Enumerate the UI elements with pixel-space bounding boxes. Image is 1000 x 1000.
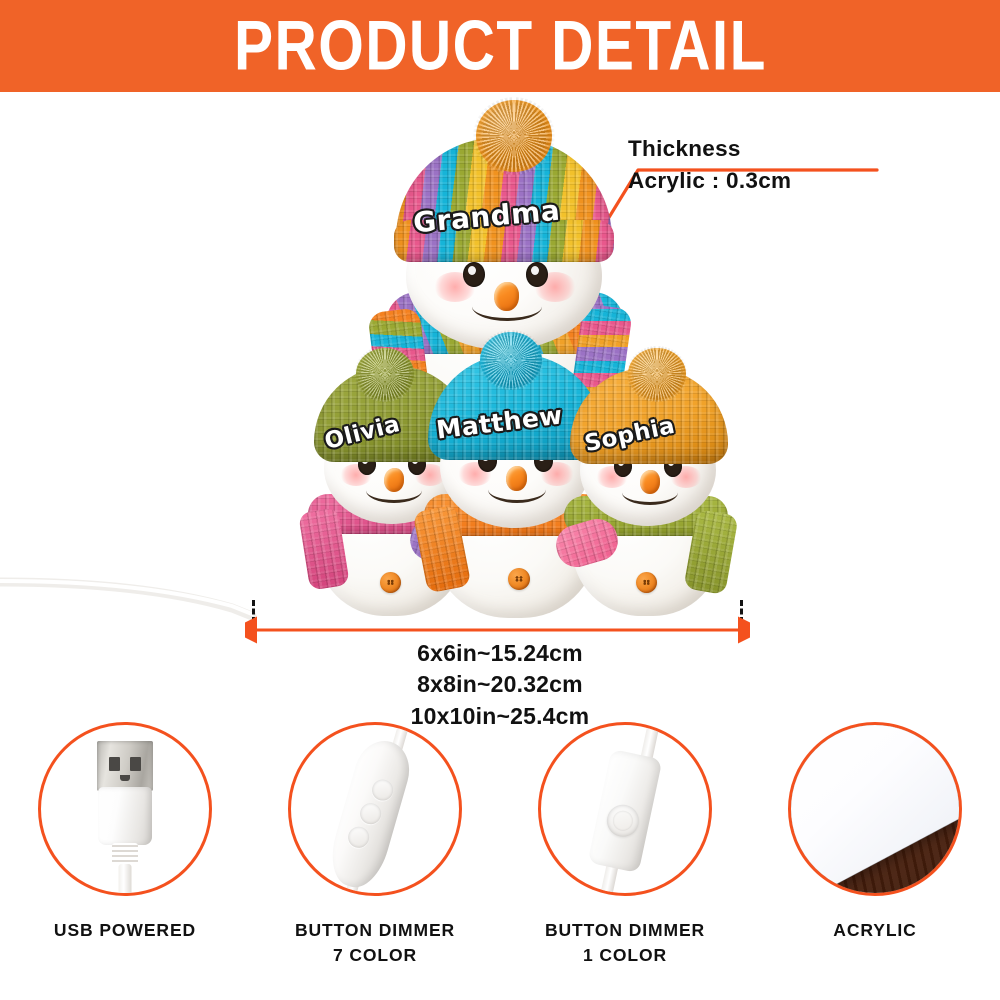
feature-label-dimmer7-line1: BUTTON DIMMER [295,918,455,943]
snowman-family-artwork: Grandma Olivia [250,96,750,616]
feature-label-usb: USB POWERED [54,918,196,943]
grandma-eye-left [463,262,485,287]
dimmer7-housing [323,734,416,893]
product-detail-page: PRODUCT DETAIL Thickness Acrylic : 0.3cm [0,0,1000,1000]
size-list: 6x6in~15.24cm 8x8in~20.32cm 10x10in~25.4… [0,638,1000,732]
matthew-pompom [480,332,542,388]
feature-label-acrylic: ACRYLIC [833,918,916,943]
usb-body [98,787,152,845]
feature-usb-powered: USB POWERED [5,722,245,943]
grandma-eye-right [526,262,548,287]
feature-label-dimmer7: BUTTON DIMMER 7 COLOR [295,918,455,969]
dimmer7-button-3[interactable] [346,824,372,850]
size-option-8x8: 8x8in~20.32cm [0,669,1000,700]
dimmer7-button-2[interactable] [358,801,384,827]
dimmer1-button[interactable] [604,802,642,840]
sophia-button [636,572,657,593]
feature-label-dimmer7-line2: 7 COLOR [295,943,455,968]
size-option-6x6: 6x6in~15.24cm [0,638,1000,669]
dimmer1-housing [588,749,663,873]
sophia-pompom [628,348,686,400]
usb-contact-center [120,775,130,781]
feature-row: USB POWERED BUTTON DIMMER 7 COLOR [0,722,1000,992]
power-cable [0,560,260,630]
feature-label-usb-line1: USB POWERED [54,918,196,943]
header-banner: PRODUCT DETAIL [0,0,1000,92]
olivia-button [380,572,401,593]
feature-acrylic: ACRYLIC [755,722,995,943]
dimmer7-button-1[interactable] [370,777,396,803]
grandma-pompom [476,100,552,172]
olivia-mouth [366,478,422,503]
usb-contact-right [130,757,141,771]
dimmer-1-color-icon [538,722,712,896]
matthew-button [508,568,530,590]
page-title: PRODUCT DETAIL [234,11,767,82]
usb-shroud [97,741,153,791]
feature-label-acrylic-line1: ACRYLIC [833,918,916,943]
feature-dimmer-1-color: BUTTON DIMMER 1 COLOR [505,722,745,969]
feature-label-dimmer1-line2: 1 COLOR [545,943,705,968]
olivia-pompom [356,348,414,400]
dimmer-7-color-icon [288,722,462,896]
usb-contact-left [109,757,120,771]
feature-label-dimmer1-line1: BUTTON DIMMER [545,918,705,943]
usb-strain-relief [112,843,138,865]
matthew-mouth [488,476,546,503]
usb-cable [119,864,132,896]
grandma-mouth [472,292,542,321]
figure-sophia: Sophia [550,362,740,616]
sophia-mouth [622,480,678,505]
acrylic-sheet-icon [788,722,962,896]
feature-dimmer-7-color: BUTTON DIMMER 7 COLOR [255,722,495,969]
usb-plug-icon [38,722,212,896]
feature-label-dimmer1: BUTTON DIMMER 1 COLOR [545,918,705,969]
